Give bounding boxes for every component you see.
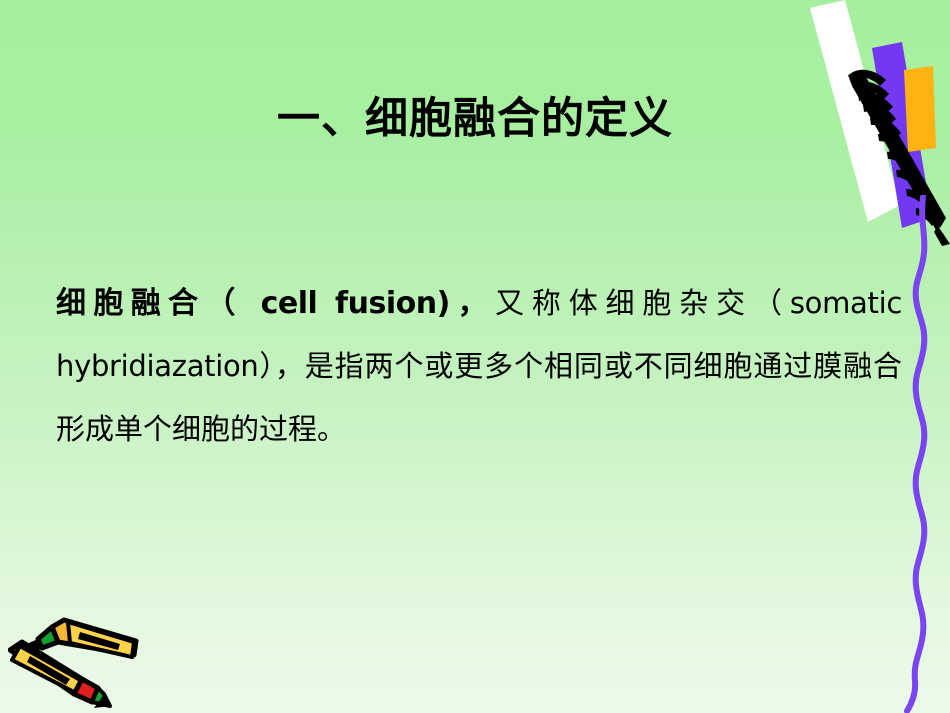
- body-segment-bold: 细胞融合（ cell fusion)，: [56, 286, 495, 321]
- wave-path: [907, 197, 924, 711]
- pencil-green-shape: [22, 620, 136, 657]
- pencil-red-shape: [10, 642, 110, 708]
- page-title: 一、细胞融合的定义: [0, 96, 950, 143]
- crossed-pencils-graphic: [8, 606, 158, 711]
- slide-canvas: 一、细胞融合的定义 细胞融合（ cell fusion)，又称体细胞杂交（som…: [0, 0, 950, 713]
- body-segment-song-1: 又称体细胞杂交（: [495, 286, 790, 320]
- body-paragraph: 细胞融合（ cell fusion)，又称体细胞杂交（somatic hybri…: [56, 272, 902, 461]
